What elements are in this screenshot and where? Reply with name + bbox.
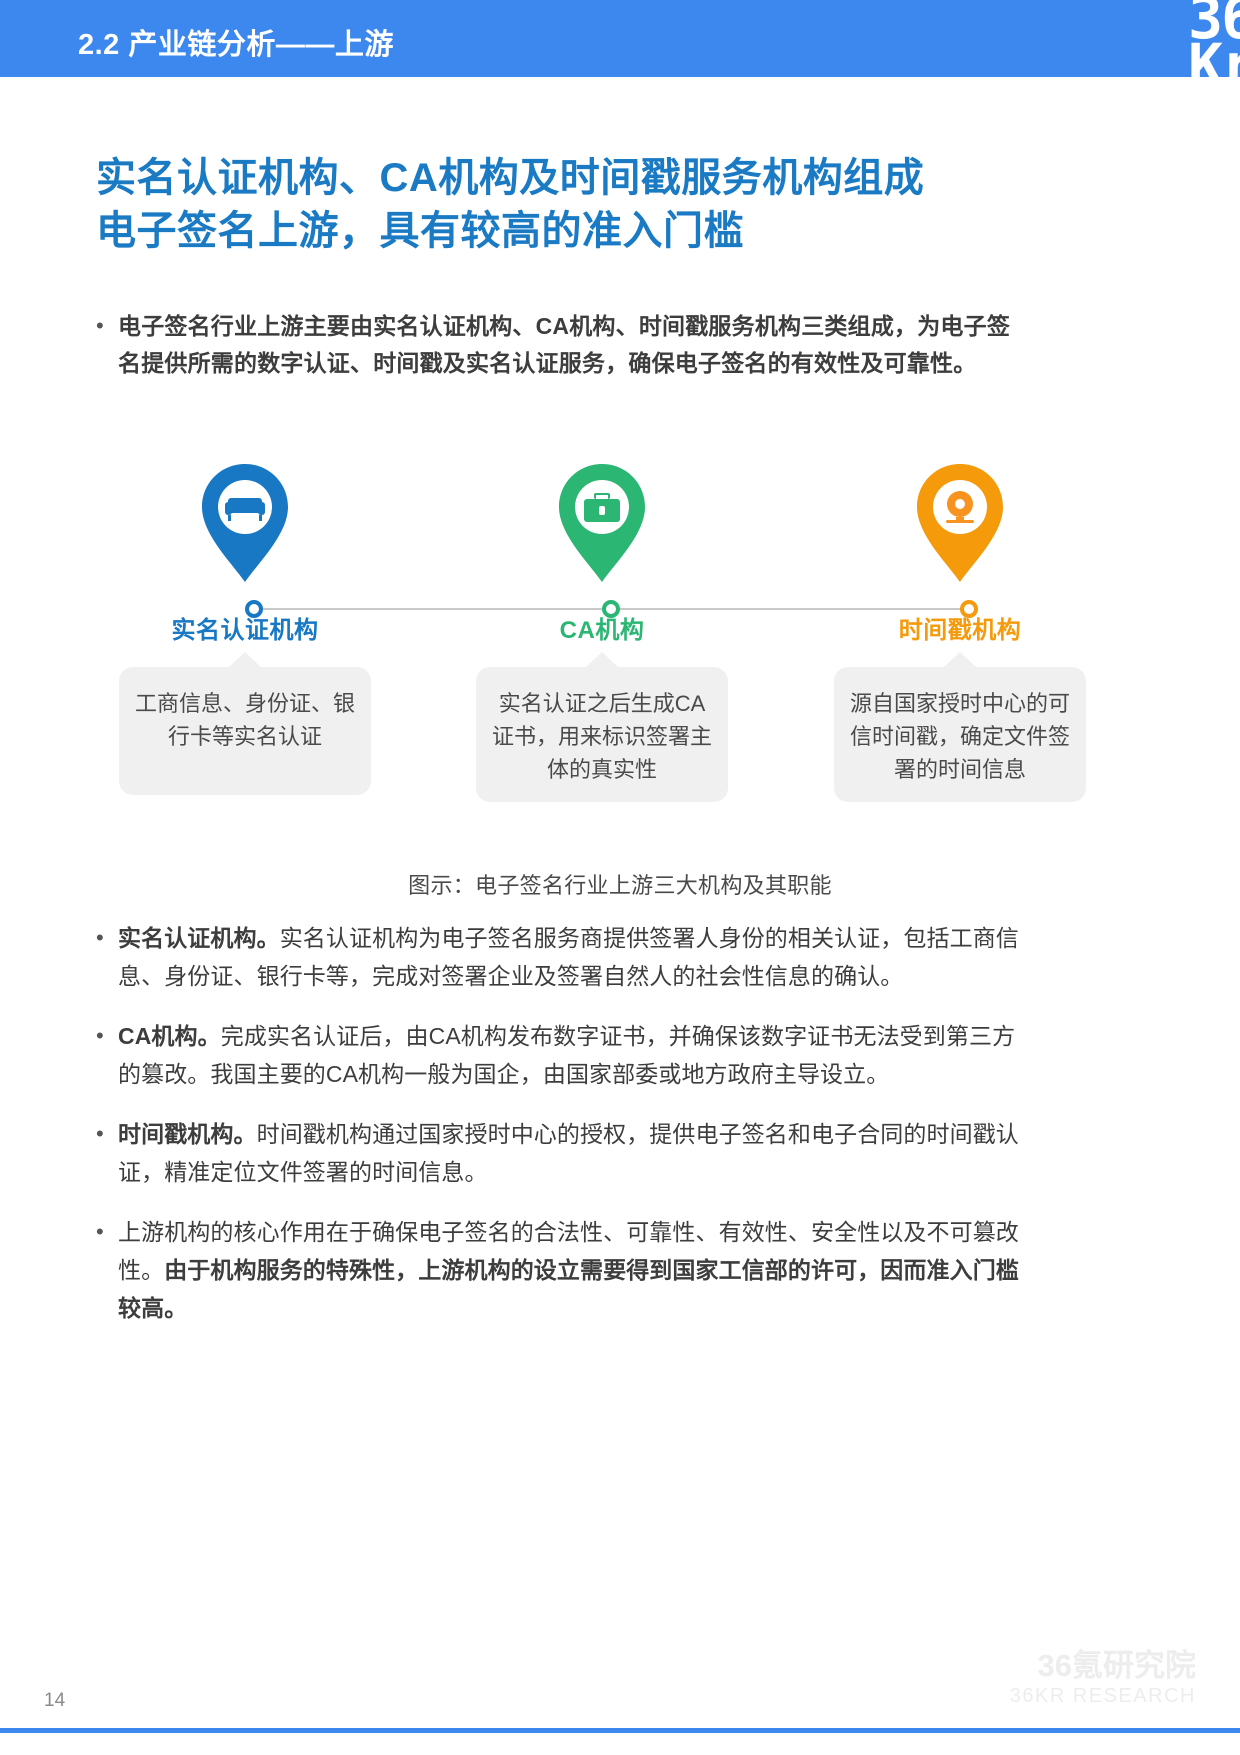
bullet-marker: •: [96, 308, 118, 344]
node-bubble-1: 工商信息、身份证、银行卡等实名认证: [119, 667, 371, 795]
map-pin-1: [197, 462, 293, 584]
list-item: • CA机构。完成实名认证后，由CA机构发布数字证书，并确保该数字证书无法受到第…: [96, 1018, 1031, 1094]
list-item-text: 上游机构的核心作用在于确保电子签名的合法性、可靠性、有效性、安全性以及不可篡改性…: [118, 1214, 1031, 1328]
page-title: 实名认证机构、CA机构及时间戳服务机构组成 电子签名上游，具有较高的准入门槛: [96, 152, 1026, 258]
bullet-marker: •: [96, 1214, 118, 1250]
list-item: • 上游机构的核心作用在于确保电子签名的合法性、可靠性、有效性、安全性以及不可篡…: [96, 1214, 1031, 1328]
bullet-marker: •: [96, 1018, 118, 1054]
body-bullet-list: • 实名认证机构。实名认证机构为电子签名服务商提供签署人身份的相关认证，包括工商…: [96, 920, 1031, 1349]
node-label-2: CA机构: [452, 610, 752, 645]
node-label-3: 时间戳机构: [810, 610, 1110, 645]
monitor-icon: [912, 462, 1008, 584]
list-item: • 实名认证机构。实名认证机构为电子签名服务商提供签署人身份的相关认证，包括工商…: [96, 920, 1031, 996]
intro-paragraph: • 电子签名行业上游主要由实名认证机构、CA机构、时间戳服务机构三类组成，为电子…: [96, 308, 1026, 383]
list-item-tail: 由于机构服务的特殊性，上游机构的设立需要得到国家工信部的许可，因而准入门槛较高。: [118, 1257, 1019, 1321]
page-number: 14: [44, 1690, 65, 1712]
list-item-text: CA机构。完成实名认证后，由CA机构发布数字证书，并确保该数字证书无法受到第三方…: [118, 1018, 1031, 1094]
page-title-line2: 电子签名上游，具有较高的准入门槛: [96, 205, 1026, 258]
footer-brand: 36氪研究院 36KR RESEARCH: [1010, 1648, 1196, 1708]
footer-rule: [0, 1728, 1240, 1733]
list-item-text: 时间戳机构。时间戳机构通过国家授时中心的授权，提供电子签名和电子合同的时间戳认证…: [118, 1116, 1031, 1192]
bullet-marker: •: [96, 920, 118, 956]
map-pin-3: [912, 462, 1008, 584]
diagram-column-1: 实名认证机构 工商信息、身份证、银行卡等实名认证: [95, 462, 395, 795]
diagram-column-3: 时间戳机构 源自国家授时中心的可信时间戳，确定文件签署的时间信息: [810, 462, 1110, 802]
slide-page: 2.2 产业链分析——上游 36 Kr 实名认证机构、CA机构及时间戳服务机构组…: [0, 0, 1240, 1755]
page-title-line1: 实名认证机构、CA机构及时间戳服务机构组成: [96, 152, 1026, 205]
briefcase-icon: [554, 462, 650, 584]
list-item-lead: 实名认证机构。: [118, 925, 280, 951]
header-bar: 2.2 产业链分析——上游 36 Kr: [0, 0, 1240, 77]
list-item-body: 完成实名认证后，由CA机构发布数字证书，并确保该数字证书无法受到第三方的篡改。我…: [118, 1023, 1015, 1087]
footer-brand-cn: 36氪研究院: [1010, 1648, 1196, 1685]
brand-logo-36kr: 36 Kr: [1188, 0, 1240, 77]
diagram-column-2: CA机构 实名认证之后生成CA证书，用来标识签署主体的真实性: [452, 462, 752, 802]
intro-text: 电子签名行业上游主要由实名认证机构、CA机构、时间戳服务机构三类组成，为电子签名…: [118, 308, 1026, 383]
sofa-icon: [197, 462, 293, 584]
figure-caption: 图示：电子签名行业上游三大机构及其职能: [0, 868, 1240, 900]
node-bubble-3: 源自国家授时中心的可信时间戳，确定文件签署的时间信息: [834, 667, 1086, 802]
footer-brand-en: 36KR RESEARCH: [1010, 1685, 1196, 1709]
list-item-lead: 时间戳机构。: [118, 1121, 257, 1147]
list-item-lead: CA机构。: [118, 1023, 221, 1049]
map-pin-2: [554, 462, 650, 584]
node-bubble-2: 实名认证之后生成CA证书，用来标识签署主体的真实性: [476, 667, 728, 802]
list-item: • 时间戳机构。时间戳机构通过国家授时中心的授权，提供电子签名和电子合同的时间戳…: [96, 1116, 1031, 1192]
brand-logo-line2: Kr: [1188, 39, 1240, 77]
upstream-diagram: 实名认证机构 工商信息、身份证、银行卡等实名认证 CA机构 实名认证之后生成: [70, 462, 1070, 852]
list-item-text: 实名认证机构。实名认证机构为电子签名服务商提供签署人身份的相关认证，包括工商信息…: [118, 920, 1031, 996]
node-label-1: 实名认证机构: [95, 610, 395, 645]
section-title: 2.2 产业链分析——上游: [78, 21, 394, 63]
bullet-marker: •: [96, 1116, 118, 1152]
